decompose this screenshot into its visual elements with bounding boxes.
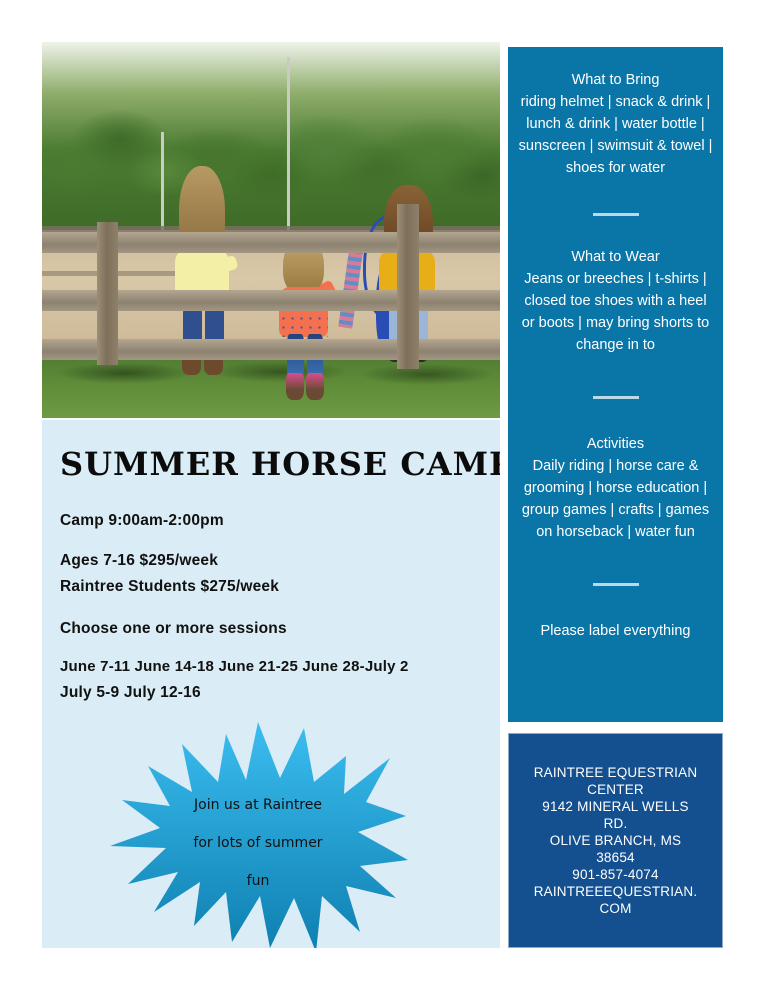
contact-line: CENTER	[587, 781, 644, 798]
contact-box: RAINTREE EQUESTRIAN CENTER 9142 MINERAL …	[508, 733, 723, 948]
sessions-prompt: Choose one or more sessions	[60, 620, 287, 638]
sessions-line-1: June 7-11 June 14-18 June 21-25 June 28-…	[60, 658, 409, 675]
section-divider	[593, 213, 639, 216]
photo-fence-post	[397, 204, 419, 369]
sessions-line-2: July 5-9 July 12-16	[60, 684, 201, 702]
section-body: Daily riding | horse care & grooming | h…	[518, 455, 713, 543]
photo-light-pole	[287, 57, 290, 230]
photo-boot	[286, 373, 304, 400]
contact-line: RAINTREE EQUESTRIAN	[534, 764, 698, 781]
section-activities: Activities Daily riding | horse care & g…	[518, 433, 713, 543]
section-body: riding helmet | snack & drink | lunch & …	[518, 91, 713, 179]
section-divider	[593, 396, 639, 399]
ages-price: Ages 7-16 $295/week	[60, 552, 218, 570]
contact-line: RD.	[604, 815, 628, 832]
student-price: Raintree Students $275/week	[60, 578, 279, 596]
section-body: Jeans or breeches | t-shirts | closed to…	[518, 268, 713, 356]
section-heading: What to Wear	[518, 246, 713, 268]
page-title: SUMMER HORSE CAMP 2021	[60, 445, 500, 483]
camp-hours: Camp 9:00am-2:00pm	[60, 512, 224, 530]
contact-line: 9142 MINERAL WELLS	[542, 798, 688, 815]
contact-line: OLIVE BRANCH, MS	[550, 832, 681, 849]
contact-line: 38654	[596, 849, 635, 866]
info-sidebar: What to Bring riding helmet | snack & dr…	[508, 47, 723, 722]
starburst-shape	[108, 720, 408, 948]
photo-girl-middle	[276, 238, 336, 407]
camp-photo	[42, 42, 500, 418]
label-everything-note: Please label everything	[518, 620, 713, 642]
section-divider	[593, 583, 639, 586]
section-heading: Activities	[518, 433, 713, 455]
photo-boot	[306, 373, 324, 400]
camp-details-panel: SUMMER HORSE CAMP 2021 Camp 9:00am-2:00p…	[42, 420, 500, 948]
photo-fence-post	[97, 222, 118, 365]
section-what-to-bring: What to Bring riding helmet | snack & dr…	[518, 69, 713, 179]
section-what-to-wear: What to Wear Jeans or breeches | t-shirt…	[518, 246, 713, 356]
contact-website: COM	[599, 900, 631, 917]
starburst-callout: Join us at Raintree for lots of summer f…	[108, 720, 408, 948]
contact-phone: 901-857-4074	[572, 866, 658, 883]
flyer-page: SUMMER HORSE CAMP 2021 Camp 9:00am-2:00p…	[0, 0, 768, 994]
contact-website: RAINTREEEQUESTRIAN.	[534, 883, 698, 900]
section-heading: What to Bring	[518, 69, 713, 91]
